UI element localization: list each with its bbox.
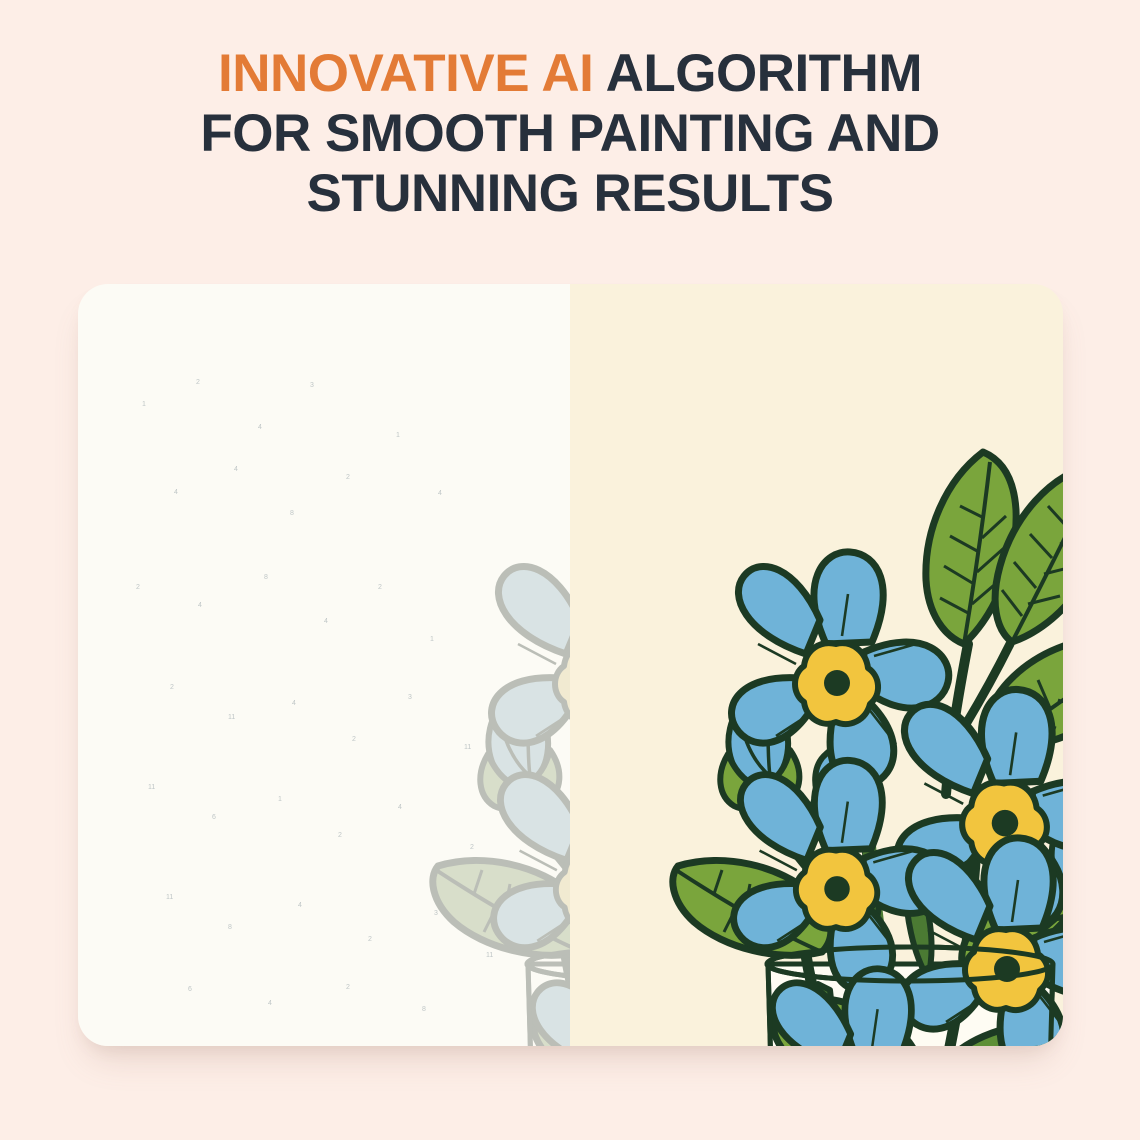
headline-accent: Innovative AI — [218, 44, 593, 103]
before-after-card[interactable]: 12 43 44 82 14 24 84 21 211 42 311 116 1… — [78, 284, 1063, 1046]
headline-line-2: for smooth painting and — [0, 104, 1140, 164]
poster-canvas: Innovative AI Algorithm for smooth paint… — [0, 0, 1140, 1140]
left-panel-uncolored[interactable]: 12 43 44 82 14 24 84 21 211 42 311 116 1… — [78, 284, 570, 1046]
headline-line-1: Innovative AI Algorithm — [0, 44, 1140, 104]
right-panel-colored[interactable] — [570, 284, 1063, 1046]
page-title: Innovative AI Algorithm for smooth paint… — [0, 44, 1140, 224]
artwork-colored — [570, 284, 1063, 1046]
headline-line-1-rest: Algorithm — [593, 44, 922, 103]
artwork-faded — [78, 284, 570, 1046]
headline-line-3: stunning results — [0, 164, 1140, 224]
